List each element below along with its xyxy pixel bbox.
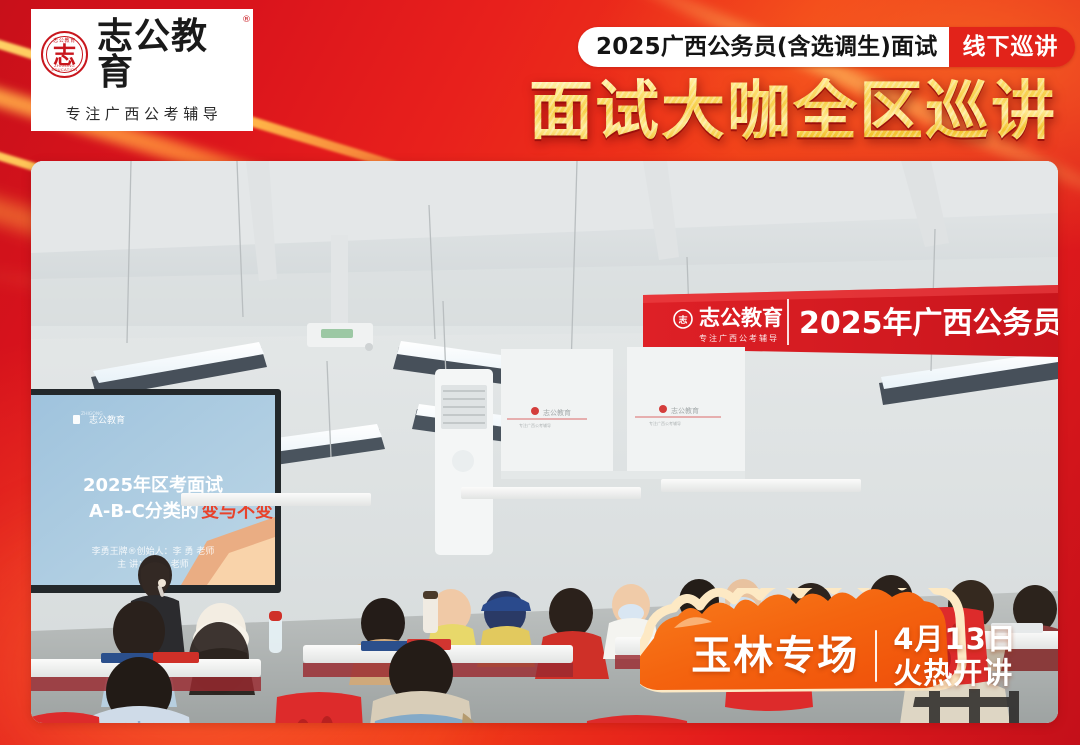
svg-text:志: 志 xyxy=(678,314,687,326)
header-pill-red-badge: 线下巡讲 xyxy=(949,27,1075,67)
banner-date-group: 4月13日 火热开讲 xyxy=(893,624,1017,688)
flame-banner-content: 玉林专场 4月13日 火热开讲 xyxy=(640,588,1064,716)
svg-text:专注广西公考辅导: 专注广西公考辅导 xyxy=(699,333,779,343)
seal-logo-icon: 志公教育 志 ZHIGONG EDUCATION xyxy=(41,31,88,78)
svg-text:志公教育: 志公教育 xyxy=(671,406,699,415)
banner-city-label: 玉林专场 xyxy=(691,636,859,676)
header-pill: 2025广西公务员(含选调生)面试 线下巡讲 xyxy=(578,27,1075,67)
banner-open-text: 火热开讲 xyxy=(893,658,1017,689)
svg-text:2025年广西公务员面试全区巡讲·5: 2025年广西公务员面试全区巡讲·5 xyxy=(799,306,1058,341)
footer-flame-banner: 玉林专场 4月13日 火热开讲 xyxy=(640,588,1064,716)
registered-mark: ® xyxy=(242,16,252,25)
page-title: 面试大咖全区巡讲 xyxy=(525,78,1061,147)
brand-logo-card: 志公教育 志 ZHIGONG EDUCATION 志公教育® 专注广西公考辅导 xyxy=(31,9,253,131)
svg-text:2025年区考面试: 2025年区考面试 xyxy=(83,474,223,496)
header-pill-white-label: 2025广西公务员(含选调生)面试 xyxy=(578,27,949,67)
brand-logo-row: 志公教育 志 ZHIGONG EDUCATION 志公教育® xyxy=(41,19,243,91)
banner-date: 4月13日 xyxy=(893,624,1017,655)
svg-text:专注广西公考辅导: 专注广西公考辅导 xyxy=(519,422,551,428)
svg-text:志公教育: 志公教育 xyxy=(543,408,571,417)
poster-root: 志公教育 志 ZHIGONG EDUCATION 志公教育® 专注广西公考辅导 … xyxy=(0,0,1080,745)
brand-tagline: 专注广西公考辅导 xyxy=(62,107,223,122)
svg-text:ZHIGONG: ZHIGONG xyxy=(81,411,103,417)
seal-bottom-text: ZHIGONG EDUCATION xyxy=(43,64,86,72)
brand-name: 志公教育® xyxy=(97,19,243,91)
svg-text:志公教育: 志公教育 xyxy=(699,306,783,330)
brand-name-text: 志公教育 xyxy=(97,16,208,93)
banner-divider xyxy=(875,630,877,682)
svg-text:专注广西公考辅导: 专注广西公考辅导 xyxy=(649,420,681,426)
